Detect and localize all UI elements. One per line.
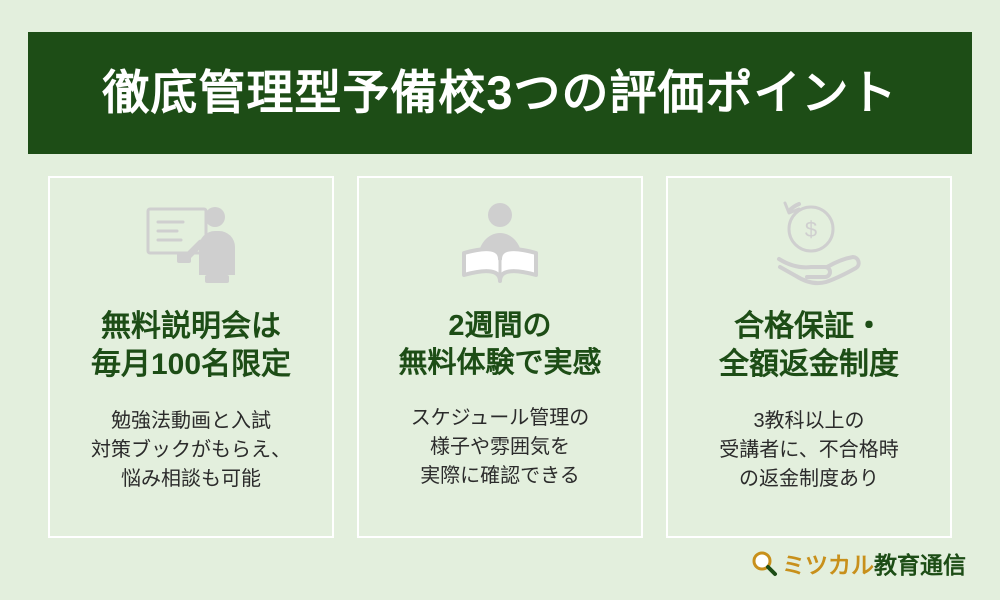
person-reading-book-icon — [440, 196, 560, 292]
card-heading: 合格保証・ 全額返金制度 — [719, 308, 899, 385]
brand-logo: ミツカル 教育通信 — [750, 548, 966, 578]
card-refund-guarantee: $ 合格保証・ 全額返金制度 3教科以上の 受講者に、不合格時 の返金制度あり — [666, 176, 952, 538]
logo-text-primary: ミツカル — [782, 546, 874, 580]
presenter-whiteboard-icon — [131, 196, 251, 292]
svg-text:$: $ — [805, 217, 817, 242]
card-body: 勉強法動画と入試 対策ブックがもらえ、 悩み相談も可能 — [91, 407, 291, 494]
card-free-trial: 2週間の 無料体験で実感 スケジュール管理の 様子や雰囲気を 実際に確認できる — [357, 176, 643, 538]
page-title: 徹底管理型予備校3つの評価ポイント — [102, 67, 897, 119]
logo-text-secondary: 教育通信 — [874, 546, 966, 580]
card-heading: 無料説明会は 毎月100名限定 — [91, 308, 291, 385]
card-heading: 2週間の 無料体験で実感 — [398, 308, 601, 382]
magnifier-icon — [750, 549, 778, 577]
infographic-poster: 徹底管理型予備校3つの評価ポイント 無料説明会は 毎月100名限定 勉強法動画と… — [0, 0, 1000, 600]
card-body: 3教科以上の 受講者に、不合格時 の返金制度あり — [719, 407, 898, 494]
money-back-hand-icon: $ — [749, 196, 869, 292]
cards-row: 無料説明会は 毎月100名限定 勉強法動画と入試 対策ブックがもらえ、 悩み相談… — [48, 176, 952, 538]
card-free-briefing: 無料説明会は 毎月100名限定 勉強法動画と入試 対策ブックがもらえ、 悩み相談… — [48, 176, 334, 538]
card-body: スケジュール管理の 様子や雰囲気を 実際に確認できる — [411, 404, 590, 491]
header-band: 徹底管理型予備校3つの評価ポイント — [28, 32, 972, 154]
